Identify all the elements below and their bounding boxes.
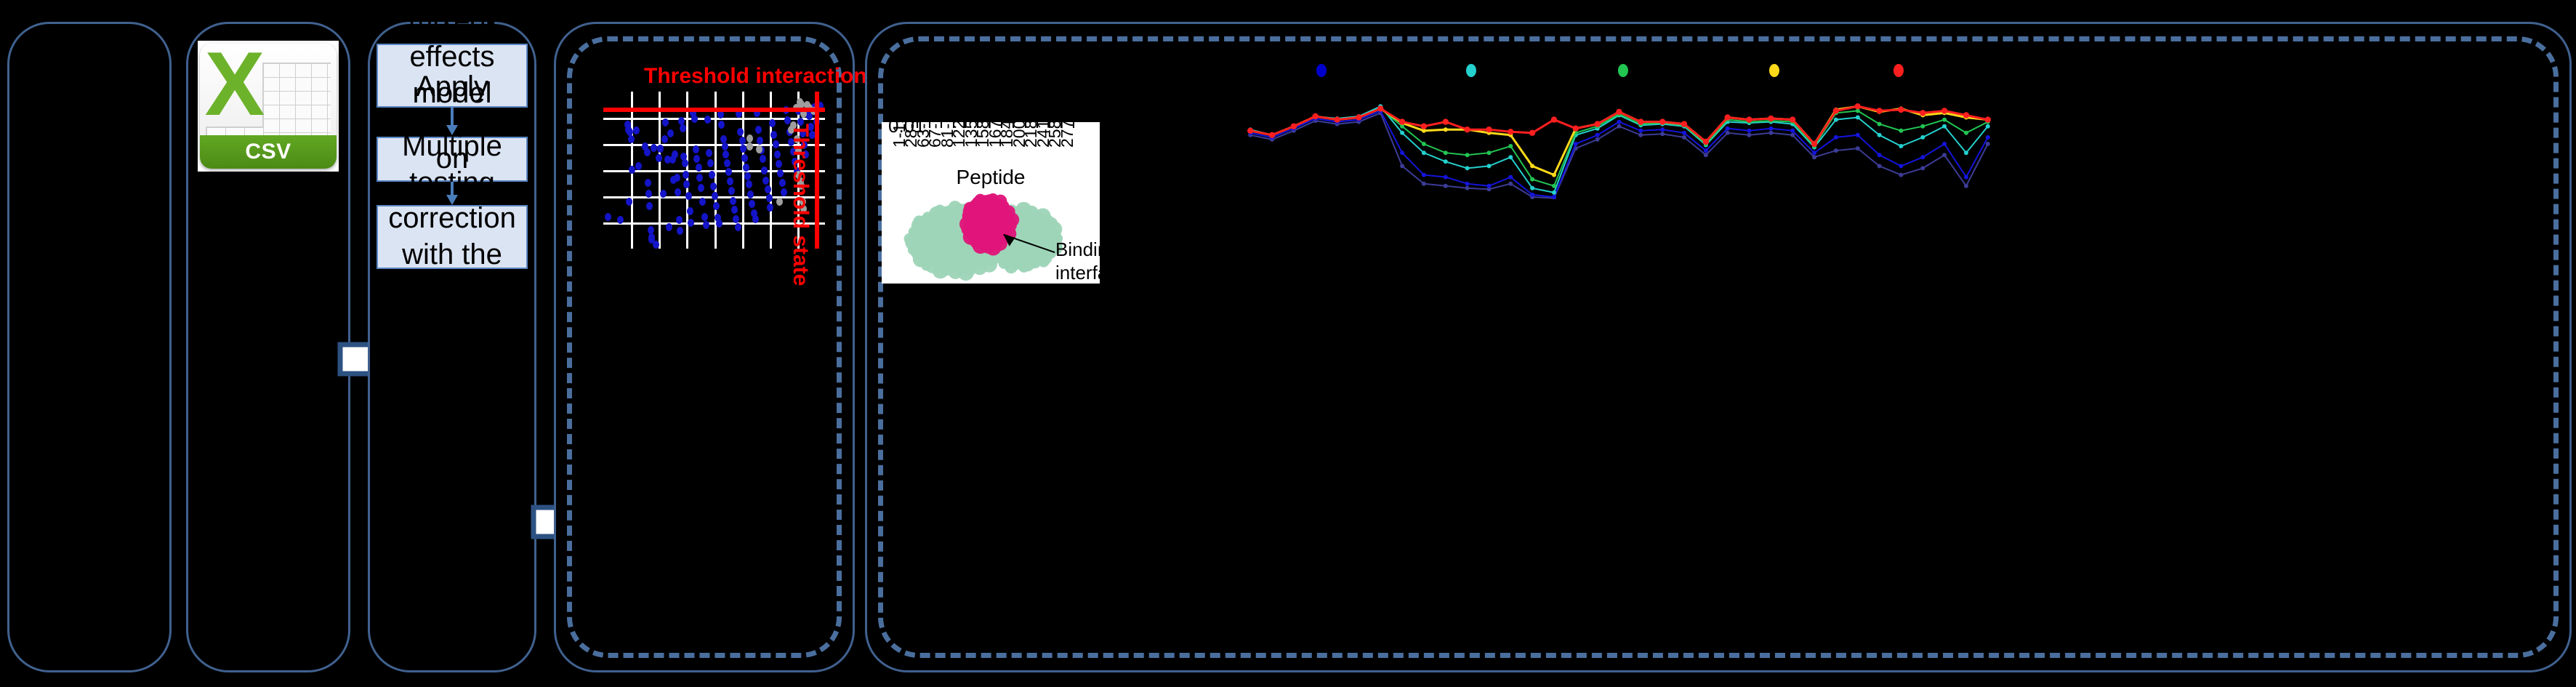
binding-interface-line-2: interface bbox=[1055, 262, 1122, 285]
profile-series-marker bbox=[1465, 182, 1470, 186]
threshold-interaction-label: Threshold interaction bbox=[644, 64, 867, 89]
profile-series-marker bbox=[1444, 175, 1448, 180]
legend-dot bbox=[1466, 64, 1476, 77]
scatter-point bbox=[716, 220, 723, 228]
profile-series-marker bbox=[1964, 175, 1968, 180]
scatter-point bbox=[698, 184, 704, 192]
y-axis-value-label: 0.01 bbox=[888, 115, 925, 137]
profile-series-marker bbox=[1487, 164, 1492, 168]
scatter-point bbox=[699, 198, 706, 206]
profile-series-marker bbox=[1422, 142, 1426, 146]
scatter-point bbox=[762, 177, 769, 185]
scatter-point bbox=[691, 115, 698, 123]
profile-series-marker bbox=[1659, 118, 1665, 124]
scatter-point bbox=[685, 192, 692, 200]
scatter-point bbox=[723, 150, 729, 158]
profile-series-marker bbox=[1487, 150, 1492, 155]
profile-series-marker bbox=[1986, 124, 1990, 129]
scatter-point bbox=[746, 142, 753, 150]
profile-series-marker bbox=[1899, 129, 1903, 133]
scatter-point bbox=[701, 213, 708, 221]
profile-series-marker bbox=[1942, 118, 1947, 122]
profile-lines bbox=[894, 83, 2551, 199]
scatter-point bbox=[706, 149, 712, 157]
profile-series-marker bbox=[1726, 126, 1730, 131]
scatter-point bbox=[653, 241, 659, 249]
scatter-point bbox=[674, 174, 680, 182]
scatter-point bbox=[761, 166, 768, 174]
stage-panel-input bbox=[7, 22, 172, 672]
profile-series-marker bbox=[1465, 186, 1470, 190]
profile-series-marker bbox=[1747, 129, 1752, 133]
profile-series-marker bbox=[1876, 108, 1882, 113]
profile-series-marker bbox=[1964, 184, 1968, 188]
profile-series-marker bbox=[1682, 135, 1686, 140]
scatter-point bbox=[735, 223, 741, 231]
csv-file-icon: X CSV bbox=[200, 44, 337, 169]
profile-series-marker bbox=[1595, 121, 1601, 126]
profile-series-marker bbox=[1834, 148, 1838, 153]
scatter-point bbox=[781, 188, 787, 196]
profile-series-marker bbox=[1725, 114, 1731, 120]
scatter-point bbox=[779, 179, 786, 187]
profile-series-marker bbox=[1422, 173, 1426, 177]
scatter-point bbox=[633, 126, 640, 134]
profile-series-marker bbox=[1444, 184, 1448, 188]
profile-series-marker bbox=[1704, 153, 1708, 157]
scatter-point bbox=[680, 124, 686, 132]
profile-series-marker bbox=[1941, 108, 1947, 113]
scatter-point bbox=[628, 135, 635, 143]
profile-series-marker bbox=[1400, 131, 1404, 135]
scatter-point bbox=[667, 129, 674, 137]
profile-series-marker bbox=[1877, 153, 1882, 157]
profile-series-marker bbox=[1399, 118, 1405, 124]
scatter-point bbox=[766, 194, 773, 202]
profile-series-marker bbox=[1508, 129, 1513, 134]
profile-series-marker bbox=[1377, 105, 1383, 111]
profile-series-marker bbox=[1638, 129, 1643, 133]
process-box-bh-text: Multiple testingcorrectionwith the BH pr… bbox=[385, 129, 519, 345]
scatter-point bbox=[777, 169, 784, 177]
profile-series-marker bbox=[1573, 126, 1579, 132]
scatter-point bbox=[767, 204, 773, 212]
profile-series-marker bbox=[1942, 142, 1947, 146]
scatter-point bbox=[776, 198, 783, 206]
scatter-point bbox=[605, 213, 611, 221]
scatter-point bbox=[727, 177, 733, 185]
scatter-point bbox=[693, 145, 699, 153]
binding-interface-line-1: Binding bbox=[1055, 238, 1122, 262]
csv-grid-large bbox=[262, 63, 331, 135]
profile-series-marker bbox=[1444, 159, 1448, 164]
scatter-point bbox=[741, 154, 748, 162]
profile-series-marker bbox=[1552, 190, 1556, 195]
scatter-point bbox=[717, 111, 724, 118]
profile-series-marker bbox=[1552, 195, 1556, 199]
peptide-tick-label: 277-284 bbox=[1058, 87, 1077, 148]
scatter-point bbox=[661, 135, 668, 143]
scatter-point bbox=[696, 174, 703, 182]
profile-series-marker bbox=[1551, 116, 1557, 122]
scatter-point bbox=[644, 148, 651, 156]
scatter-point bbox=[646, 202, 653, 210]
scatter-point bbox=[774, 150, 781, 158]
scatter-point bbox=[707, 159, 714, 167]
profile-series-marker bbox=[1269, 132, 1275, 138]
profile-series-marker bbox=[1986, 142, 1990, 146]
scatter-point bbox=[773, 140, 779, 148]
profile-series-marker bbox=[1444, 127, 1448, 132]
process-box-bh-text-line-3: with the BH procedure bbox=[385, 237, 519, 345]
csv-extension-label: CSV bbox=[200, 135, 337, 169]
profile-series-marker bbox=[1726, 131, 1730, 135]
scatter-point bbox=[731, 206, 738, 214]
profile-series-marker bbox=[1595, 137, 1600, 142]
scatter-point bbox=[712, 192, 718, 200]
scatter-point bbox=[656, 154, 662, 162]
scatter-point bbox=[769, 119, 776, 127]
profile-series-marker bbox=[1595, 133, 1600, 137]
profile-series-marker bbox=[1899, 173, 1903, 177]
scatter-point bbox=[724, 159, 730, 167]
legend-dot bbox=[1618, 64, 1628, 77]
profile-series-marker bbox=[1334, 116, 1340, 122]
profile-series-marker bbox=[1444, 150, 1448, 155]
profile-series-marker bbox=[1899, 144, 1903, 148]
scatter-point bbox=[645, 179, 651, 187]
profile-series-marker bbox=[1703, 139, 1709, 145]
profile-series-marker bbox=[1855, 103, 1861, 109]
profile-series-marker bbox=[1617, 120, 1622, 124]
profile-series-marker bbox=[1247, 128, 1253, 134]
profile-series-marker bbox=[1768, 131, 1773, 135]
binding-interface-label: Binding interface bbox=[1055, 238, 1122, 284]
profile-series-marker bbox=[1487, 184, 1492, 188]
peptide-profile-chart bbox=[894, 64, 2551, 253]
profile-series-marker bbox=[1704, 148, 1708, 153]
profile-series-marker bbox=[1920, 155, 1925, 159]
profile-series-marker bbox=[1856, 146, 1860, 150]
profile-series-marker bbox=[1920, 166, 1925, 170]
profile-series-marker bbox=[1660, 132, 1665, 136]
scatter-point bbox=[693, 155, 700, 163]
profile-series-marker bbox=[1574, 142, 1578, 146]
scatter-point bbox=[672, 150, 678, 158]
scatter-point bbox=[733, 215, 739, 223]
profile-series-marker bbox=[1812, 155, 1816, 159]
scatter-point bbox=[746, 180, 752, 188]
profile-series-marker bbox=[1898, 107, 1904, 113]
excel-x-letter: X bbox=[203, 45, 267, 126]
profile-series-marker bbox=[1942, 124, 1947, 129]
scatter-point bbox=[676, 216, 683, 224]
profile-series-marker bbox=[1877, 164, 1882, 168]
legend-dot bbox=[1316, 64, 1327, 77]
profile-series-marker bbox=[1508, 155, 1513, 159]
scatter-point bbox=[617, 216, 624, 224]
flow-arrow-model-to-wald bbox=[443, 108, 461, 137]
profile-series-marker bbox=[1811, 141, 1817, 147]
scatter-point bbox=[756, 145, 762, 153]
profile-series-marker bbox=[1529, 130, 1535, 136]
profile-series-marker bbox=[1530, 164, 1534, 168]
scatter-point bbox=[657, 145, 664, 153]
scatter-point bbox=[722, 142, 728, 150]
profile-series-marker bbox=[1464, 126, 1470, 132]
profile-series-marker bbox=[1530, 193, 1534, 197]
scatter-point bbox=[675, 188, 681, 196]
process-box-model-text-line-1: Fit a linear mixed- bbox=[385, 0, 519, 39]
scatter-point bbox=[739, 137, 746, 145]
scatter-point bbox=[662, 118, 669, 126]
scatter-point bbox=[629, 166, 635, 174]
profile-series-marker bbox=[1313, 113, 1319, 119]
profile-series-marker bbox=[1638, 118, 1643, 124]
scatter-point bbox=[740, 145, 746, 153]
scatter-point bbox=[755, 126, 762, 134]
profile-series-marker bbox=[1530, 177, 1534, 182]
profile-series-marker bbox=[1920, 124, 1925, 129]
legend-dot bbox=[1893, 64, 1904, 77]
profile-series-marker bbox=[1986, 135, 1990, 140]
scatter-point bbox=[677, 227, 683, 235]
scatter-point bbox=[760, 155, 766, 163]
profile-series-marker bbox=[1552, 184, 1556, 188]
scatter-point bbox=[749, 200, 755, 208]
scatter-point bbox=[744, 172, 751, 180]
profile-series-marker bbox=[1508, 144, 1513, 148]
profile-series-marker bbox=[1638, 133, 1643, 137]
scatter-point bbox=[687, 207, 693, 215]
scatter-point bbox=[770, 131, 777, 139]
profile-series-marker bbox=[1877, 133, 1882, 137]
profile-series-marker bbox=[1856, 116, 1860, 120]
scatter-point bbox=[765, 185, 771, 193]
profile-series-marker bbox=[1834, 118, 1838, 122]
profile-series-marker bbox=[1790, 133, 1795, 137]
profile-series-marker bbox=[1812, 150, 1816, 155]
profile-series-marker bbox=[1746, 116, 1752, 122]
profile-series-marker bbox=[1291, 124, 1297, 129]
profile-series-marker bbox=[1790, 116, 1795, 122]
profile-series-marker bbox=[1465, 153, 1470, 157]
scatter-point bbox=[728, 187, 735, 195]
gridline-horizontal bbox=[603, 118, 825, 120]
scatter-point bbox=[704, 116, 711, 124]
scatter-point bbox=[651, 144, 657, 152]
profile-series-marker bbox=[1508, 175, 1513, 180]
threshold-state-label: Threshold state bbox=[788, 124, 813, 286]
scatter-point bbox=[703, 221, 709, 229]
legend-dot bbox=[1769, 64, 1779, 77]
profile-series-marker bbox=[1964, 131, 1968, 135]
scatter-point bbox=[635, 162, 642, 170]
profile-series-marker bbox=[1443, 118, 1449, 124]
profile-series-marker bbox=[1964, 150, 1968, 155]
profile-series-marker bbox=[1616, 109, 1622, 115]
scatter-point bbox=[730, 197, 736, 205]
profile-series-marker bbox=[1508, 182, 1513, 186]
profile-series-marker bbox=[1790, 129, 1795, 133]
profile-series-marker bbox=[1920, 135, 1925, 140]
scatter-point bbox=[710, 182, 717, 190]
scatter-point bbox=[696, 164, 702, 172]
csv-file-card: X CSV bbox=[198, 41, 339, 172]
profile-series-marker bbox=[1920, 110, 1925, 116]
threshold-line-horizontal bbox=[603, 108, 825, 112]
profile-series-marker bbox=[1899, 164, 1903, 168]
profile-series-marker bbox=[1681, 121, 1687, 126]
profile-series-marker bbox=[1834, 135, 1838, 140]
scatter-point bbox=[752, 215, 759, 223]
profile-series-marker bbox=[1552, 173, 1556, 177]
flow-arrow-wald-to-bh bbox=[443, 182, 461, 206]
profile-series-marker bbox=[1877, 122, 1882, 126]
profile-series-marker bbox=[1985, 116, 1991, 122]
profile-series-marker bbox=[1530, 186, 1534, 190]
profile-series-marker bbox=[1400, 150, 1404, 155]
scatter-point bbox=[688, 219, 694, 227]
profile-series-marker bbox=[1422, 150, 1426, 155]
scatter-point bbox=[746, 134, 753, 142]
scatter-point bbox=[683, 180, 690, 188]
profile-series-marker bbox=[1768, 116, 1774, 121]
profile-series-marker bbox=[1486, 126, 1492, 132]
threshold-line-vertical bbox=[815, 92, 819, 249]
profile-series-marker bbox=[1660, 127, 1665, 132]
profile-series-marker bbox=[1421, 124, 1427, 129]
profile-series-marker bbox=[1963, 112, 1969, 118]
scatter-point bbox=[713, 202, 720, 210]
profile-line-svg bbox=[894, 83, 2551, 199]
profile-series-marker bbox=[1747, 133, 1752, 137]
volcano-scatter-chart: Threshold interaction Threshold state bbox=[574, 64, 836, 253]
profile-series-marker bbox=[1617, 124, 1622, 129]
process-box-bh: Multiple testingcorrectionwith the BH pr… bbox=[377, 205, 528, 269]
profile-series-marker bbox=[1356, 114, 1361, 120]
scatter-point bbox=[725, 168, 732, 176]
profile-series-marker bbox=[1856, 133, 1860, 137]
scatter-point bbox=[718, 121, 725, 129]
peptide-tick-mark bbox=[1073, 122, 1074, 128]
profile-series-marker bbox=[1833, 108, 1839, 113]
profile-series-marker bbox=[1768, 126, 1773, 131]
scatter-point bbox=[666, 223, 672, 231]
profile-series-marker bbox=[1465, 166, 1470, 170]
profile-series-marker bbox=[1942, 153, 1947, 157]
scatter-point bbox=[776, 160, 782, 168]
profile-series-marker bbox=[1422, 182, 1426, 186]
profile-series-marker bbox=[1400, 164, 1404, 168]
profile-series-marker bbox=[1682, 131, 1686, 135]
